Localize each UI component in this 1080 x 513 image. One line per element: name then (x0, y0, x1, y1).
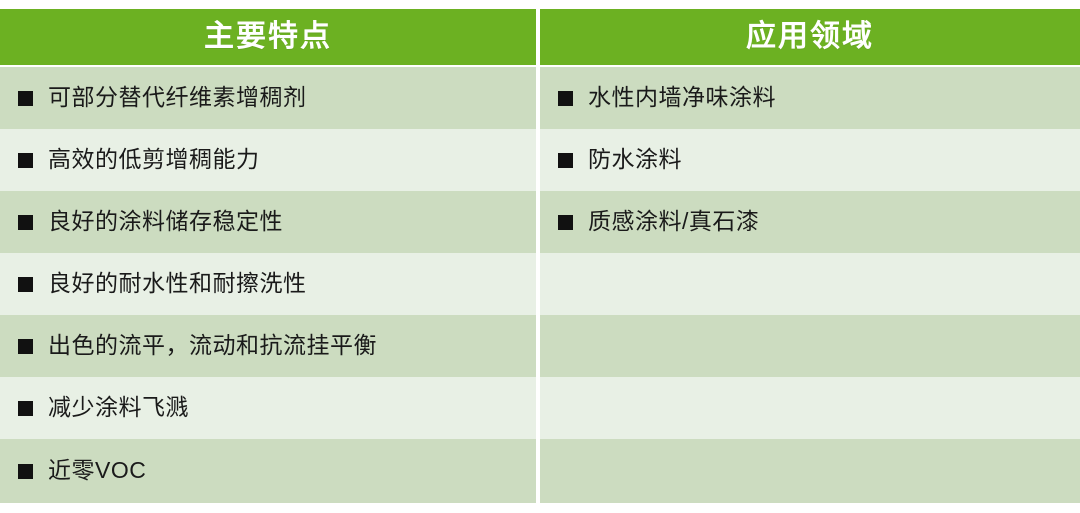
table-row: 良好的涂料储存稳定性 质感涂料/真石漆 (0, 191, 1080, 253)
column-header-features: 主要特点 (0, 9, 536, 65)
cell-applications-text: 水性内墙净味涂料 (588, 84, 776, 112)
bullet-square-icon (18, 464, 33, 479)
cell-features-text: 出色的流平，流动和抗流挂平衡 (48, 332, 377, 360)
bullet-square-icon (558, 153, 573, 168)
bullet-square-icon (18, 339, 33, 354)
cell-features-text: 良好的涂料储存稳定性 (48, 208, 283, 236)
cell-features: 出色的流平，流动和抗流挂平衡 (0, 315, 536, 377)
column-header-features-label: 主要特点 (204, 22, 332, 52)
cell-applications: 水性内墙净味涂料 (540, 67, 1080, 129)
cell-features: 减少涂料飞溅 (0, 377, 536, 439)
cell-applications-empty (540, 253, 1080, 315)
cell-applications: 质感涂料/真石漆 (540, 191, 1080, 253)
bullet-square-icon (18, 401, 33, 416)
cell-applications: 防水涂料 (540, 129, 1080, 191)
bullet-square-icon (18, 153, 33, 168)
cell-features: 可部分替代纤维素增稠剂 (0, 67, 536, 129)
cell-features-text: 近零VOC (48, 457, 146, 485)
column-header-applications: 应用领域 (540, 9, 1080, 65)
bullet-square-icon (18, 277, 33, 292)
cell-applications-empty (540, 377, 1080, 439)
bullet-square-icon (558, 215, 573, 230)
cell-applications-text: 质感涂料/真石漆 (588, 208, 759, 236)
cell-features-text: 良好的耐水性和耐擦洗性 (48, 270, 307, 298)
cell-features-text: 高效的低剪增稠能力 (48, 146, 260, 174)
column-header-applications-label: 应用领域 (746, 22, 874, 52)
bullet-square-icon (558, 91, 573, 106)
cell-applications-empty (540, 439, 1080, 503)
cell-features: 近零VOC (0, 439, 536, 503)
cell-features: 高效的低剪增稠能力 (0, 129, 536, 191)
table-row: 可部分替代纤维素增稠剂 水性内墙净味涂料 (0, 67, 1080, 129)
cell-features: 良好的涂料储存稳定性 (0, 191, 536, 253)
feature-comparison-table: 主要特点 应用领域 可部分替代纤维素增稠剂 水性内墙净味涂料 高效的低剪增稠能力 (0, 9, 1080, 513)
bullet-square-icon (18, 91, 33, 106)
table-body: 可部分替代纤维素增稠剂 水性内墙净味涂料 高效的低剪增稠能力 防水涂料 良好的涂… (0, 65, 1080, 504)
cell-features: 良好的耐水性和耐擦洗性 (0, 253, 536, 315)
cell-features-text: 可部分替代纤维素增稠剂 (48, 84, 307, 112)
cell-applications-empty (540, 315, 1080, 377)
table-row: 良好的耐水性和耐擦洗性 (0, 253, 1080, 315)
table-row: 出色的流平，流动和抗流挂平衡 (0, 315, 1080, 377)
cell-applications-text: 防水涂料 (588, 146, 682, 174)
table-row: 高效的低剪增稠能力 防水涂料 (0, 129, 1080, 191)
table-header-row: 主要特点 应用领域 (0, 9, 1080, 65)
cell-features-text: 减少涂料飞溅 (48, 394, 189, 422)
table-row: 减少涂料飞溅 (0, 377, 1080, 439)
table-row: 近零VOC (0, 439, 1080, 503)
bullet-square-icon (18, 215, 33, 230)
